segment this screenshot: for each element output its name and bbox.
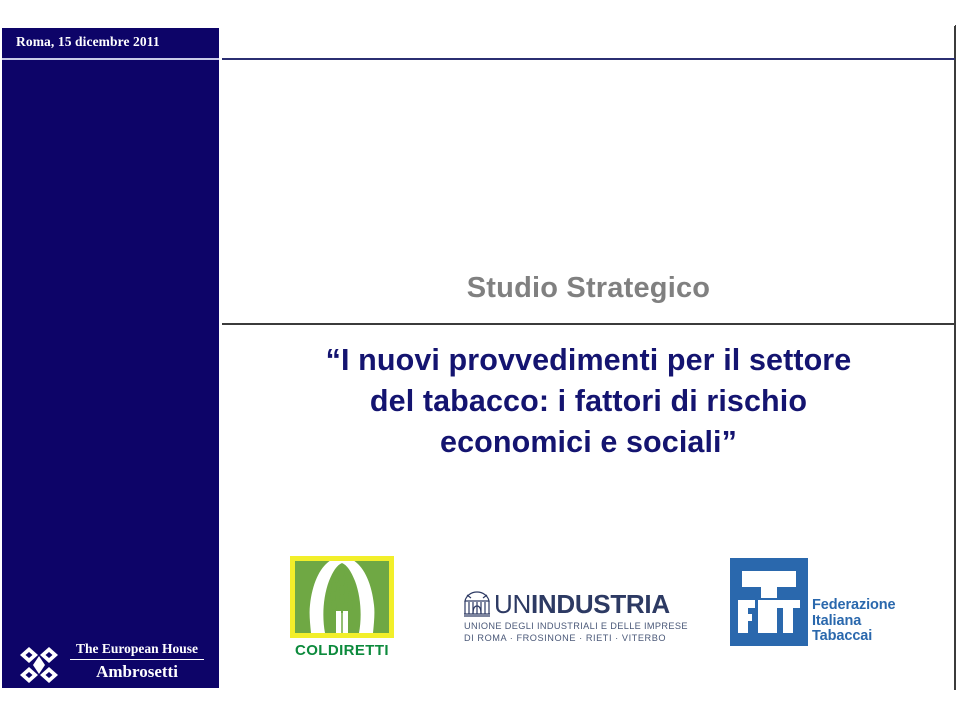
ambrosetti-logo: The European House Ambrosetti	[18, 640, 208, 692]
unindustria-wordmark: UNINDUSTRIA	[462, 590, 670, 618]
page-title-line-2: del tabacco: i fattori di rischio	[232, 381, 945, 422]
ambrosetti-line2: Ambrosetti	[66, 662, 208, 682]
page-title-line-3: economici e sociali”	[232, 422, 945, 463]
coldiretti-emblem-icon	[290, 556, 394, 638]
unindustria-subtitle-line2: DI ROMA · FROSINONE · RIETI · VITERBO	[464, 633, 692, 643]
slide-canvas: Roma, 15 dicembre 2011	[0, 0, 960, 720]
unindustria-emblem-icon	[462, 590, 494, 618]
fit-line1: Federazione	[812, 598, 896, 614]
page-title: “I nuovi provvedimenti per il settore de…	[232, 340, 945, 463]
ambrosetti-wordmark: The European House Ambrosetti	[66, 640, 208, 682]
fit-wordmark: Federazione Italiana Tabaccai	[812, 598, 896, 645]
fit-logo: Federazione Italiana Tabaccai	[730, 558, 910, 663]
coldiretti-wordmark: COLDIRETTI	[290, 642, 394, 659]
slide-top-border	[222, 25, 955, 26]
unindustria-subtitle-line1: UNIONE DEGLI INDUSTRIALI E DELLE IMPRESE	[464, 621, 692, 631]
ambrosetti-line1: The European House	[66, 640, 208, 657]
coldiretti-logo: COLDIRETTI	[290, 556, 402, 668]
fit-emblem-icon	[730, 558, 808, 646]
date-bar: Roma, 15 dicembre 2011	[2, 28, 219, 58]
page-title-line-1: “I nuovi provvedimenti per il settore	[232, 340, 945, 381]
title-divider-rule	[222, 323, 955, 325]
unindustria-name: UNINDUSTRIA	[494, 590, 670, 618]
fit-line3: Tabaccai	[812, 629, 896, 645]
unindustria-name-light: UN	[494, 589, 531, 619]
study-subtitle: Studio Strategico	[222, 272, 955, 305]
unindustria-logo: UNINDUSTRIA UNIONE DEGLI INDUSTRIALI E D…	[462, 590, 694, 652]
unindustria-name-bold: INDUSTRIA	[531, 589, 670, 619]
ambrosetti-knot-icon	[18, 645, 60, 685]
partner-logo-row: COLDIRETTI UN	[222, 548, 955, 673]
header-rule	[222, 58, 955, 60]
date-label: Roma, 15 dicembre 2011	[16, 34, 160, 50]
left-navy-panel: Roma, 15 dicembre 2011	[2, 28, 219, 688]
date-bar-underline	[2, 58, 219, 60]
fit-line2: Italiana	[812, 614, 896, 630]
ambrosetti-divider	[70, 659, 204, 660]
